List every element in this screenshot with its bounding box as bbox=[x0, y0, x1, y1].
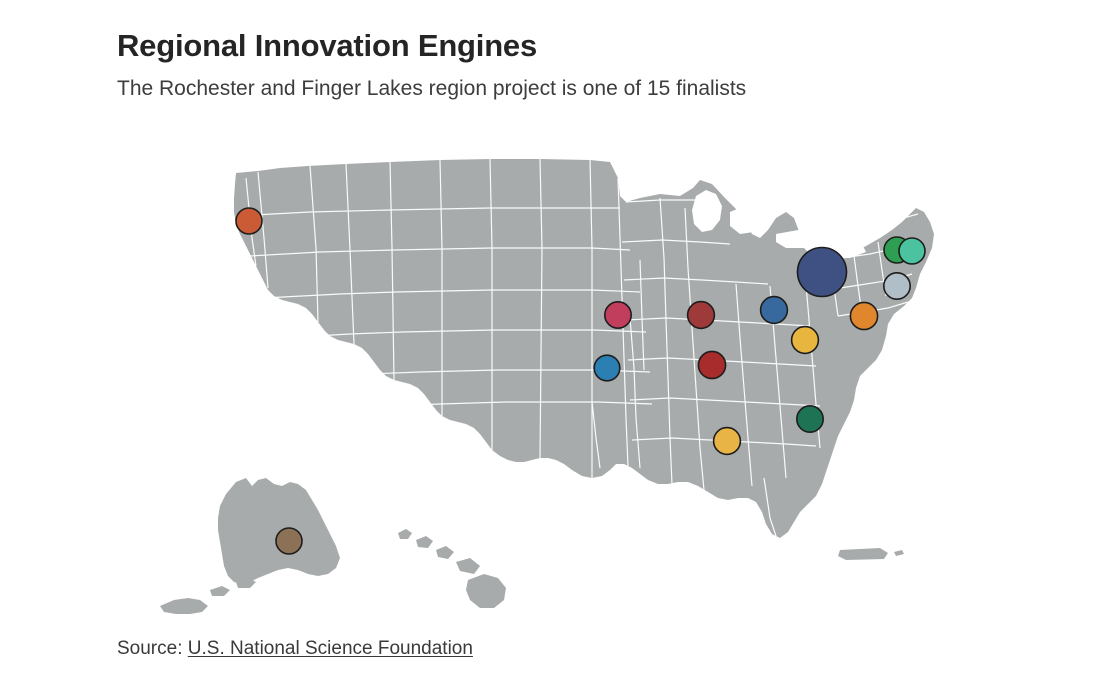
map-marker[interactable]: Great Lakes (Michigan/Ohio) bbox=[761, 297, 788, 324]
map-marker[interactable]: Alaska bbox=[276, 528, 302, 554]
source-attribution: Source: U.S. National Science Foundation bbox=[117, 638, 473, 660]
map-marker[interactable]: Rochester and Finger Lakes region bbox=[798, 248, 847, 297]
map-marker[interactable]: Indiana bbox=[698, 351, 725, 378]
puerto-rico-inset bbox=[838, 548, 904, 560]
map-marker[interactable]: Iowa bbox=[605, 302, 631, 328]
map-marker[interactable]: Central Plains (Kansas/Missouri) bbox=[594, 355, 620, 381]
contiguous-us-landmass bbox=[234, 159, 934, 538]
map-marker[interactable]: Illinois / Chicago bbox=[688, 302, 715, 329]
map-marker[interactable]: Pacific Northwest (Oregon) bbox=[236, 208, 262, 234]
map-marker[interactable]: New Jersey / New York metro bbox=[850, 302, 877, 329]
page-subtitle: The Rochester and Finger Lakes region pr… bbox=[117, 76, 1017, 101]
us-map-svg: Pacific Northwest (Oregon)AlaskaCentral … bbox=[140, 138, 960, 623]
page-title: Regional Innovation Engines bbox=[117, 28, 1017, 64]
chart-header: Regional Innovation Engines The Rocheste… bbox=[117, 28, 1017, 101]
map-marker[interactable]: South Carolina bbox=[797, 406, 823, 432]
us-map-container: Pacific Northwest (Oregon)AlaskaCentral … bbox=[140, 138, 960, 623]
map-marker[interactable]: West Virginia / Virginia bbox=[792, 327, 819, 354]
source-link[interactable]: U.S. National Science Foundation bbox=[188, 638, 473, 659]
map-marker[interactable]: Massachusetts (teal green) bbox=[899, 238, 925, 264]
map-marker[interactable]: Mississippi / Alabama bbox=[714, 428, 741, 455]
source-label: Source: bbox=[117, 638, 188, 659]
map-marker[interactable]: Rhode Island / Connecticut bbox=[884, 273, 910, 299]
alaska-inset bbox=[160, 478, 340, 614]
infographic-page: Regional Innovation Engines The Rocheste… bbox=[0, 0, 1096, 691]
hawaii-inset bbox=[398, 529, 506, 608]
map-land-layer bbox=[234, 159, 934, 538]
